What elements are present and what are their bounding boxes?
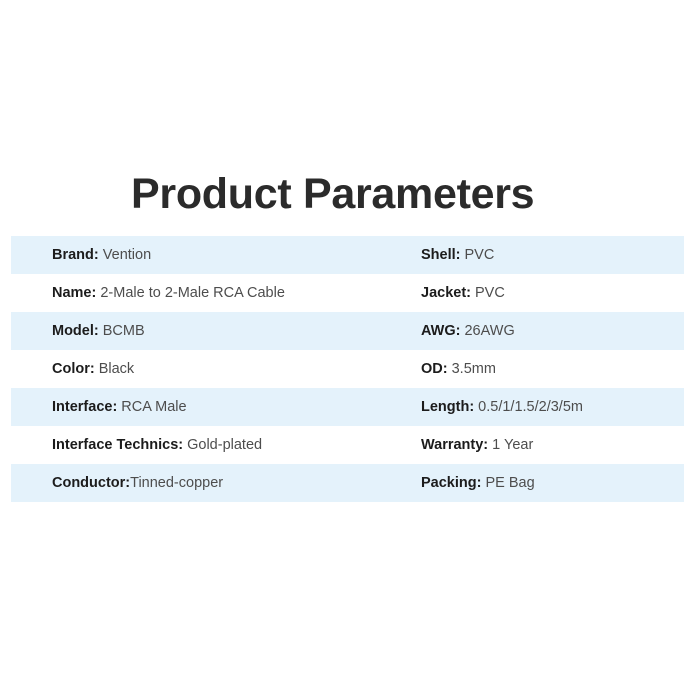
- spec-value: 0.5/1/1.5/2/3/5m: [474, 400, 583, 415]
- spec-value: Gold-plated: [183, 438, 262, 453]
- spec-cell-left: Name: 2-Male to 2-Male RCA Cable: [11, 286, 396, 301]
- spec-label: Name:: [52, 286, 96, 301]
- specifications-table: Brand: Vention Shell: PVC Name: 2-Male t…: [11, 236, 684, 502]
- spec-label: Warranty:: [421, 438, 488, 453]
- spec-label: Length:: [421, 400, 474, 415]
- table-row: Interface Technics: Gold-plated Warranty…: [11, 426, 684, 464]
- spec-label: Model:: [52, 324, 99, 339]
- spec-cell-right: Length: 0.5/1/1.5/2/3/5m: [396, 400, 684, 415]
- spec-cell-right: AWG: 26AWG: [396, 324, 684, 339]
- spec-value: PVC: [471, 286, 505, 301]
- spec-value: PVC: [460, 248, 494, 263]
- table-row: Color: Black OD: 3.5mm: [11, 350, 684, 388]
- spec-value: PE Bag: [481, 476, 534, 491]
- page-title: Product Parameters: [131, 170, 534, 219]
- table-row: Brand: Vention Shell: PVC: [11, 236, 684, 274]
- spec-cell-left: Brand: Vention: [11, 248, 396, 263]
- spec-value: 2-Male to 2-Male RCA Cable: [96, 286, 285, 301]
- spec-value: 3.5mm: [448, 362, 496, 377]
- spec-label: Jacket:: [421, 286, 471, 301]
- spec-label: Interface:: [52, 400, 117, 415]
- product-parameters-page: Product Parameters Brand: Vention Shell:…: [0, 0, 700, 700]
- spec-cell-right: Shell: PVC: [396, 248, 684, 263]
- spec-label: OD:: [421, 362, 448, 377]
- spec-label: Interface Technics:: [52, 438, 183, 453]
- spec-value: BCMB: [99, 324, 145, 339]
- spec-value: 1 Year: [488, 438, 533, 453]
- spec-cell-left: Interface Technics: Gold-plated: [11, 438, 396, 453]
- spec-label: Brand:: [52, 248, 99, 263]
- spec-cell-left: Model: BCMB: [11, 324, 396, 339]
- spec-value: RCA Male: [117, 400, 186, 415]
- spec-value: Vention: [99, 248, 151, 263]
- spec-cell-right: OD: 3.5mm: [396, 362, 684, 377]
- spec-cell-left: Color: Black: [11, 362, 396, 377]
- spec-label: AWG:: [421, 324, 460, 339]
- spec-cell-left: Interface: RCA Male: [11, 400, 396, 415]
- spec-label: Conductor:: [52, 476, 130, 491]
- spec-cell-right: Packing: PE Bag: [396, 476, 684, 491]
- spec-cell-left: Conductor:Tinned-copper: [11, 476, 396, 491]
- spec-value: Tinned-copper: [130, 476, 223, 491]
- spec-label: Shell:: [421, 248, 460, 263]
- table-row: Interface: RCA Male Length: 0.5/1/1.5/2/…: [11, 388, 684, 426]
- spec-value: 26AWG: [460, 324, 514, 339]
- table-row: Name: 2-Male to 2-Male RCA Cable Jacket:…: [11, 274, 684, 312]
- spec-value: Black: [95, 362, 135, 377]
- spec-label: Packing:: [421, 476, 481, 491]
- table-row: Model: BCMB AWG: 26AWG: [11, 312, 684, 350]
- spec-label: Color:: [52, 362, 95, 377]
- table-row: Conductor:Tinned-copper Packing: PE Bag: [11, 464, 684, 502]
- spec-cell-right: Warranty: 1 Year: [396, 438, 684, 453]
- spec-cell-right: Jacket: PVC: [396, 286, 684, 301]
